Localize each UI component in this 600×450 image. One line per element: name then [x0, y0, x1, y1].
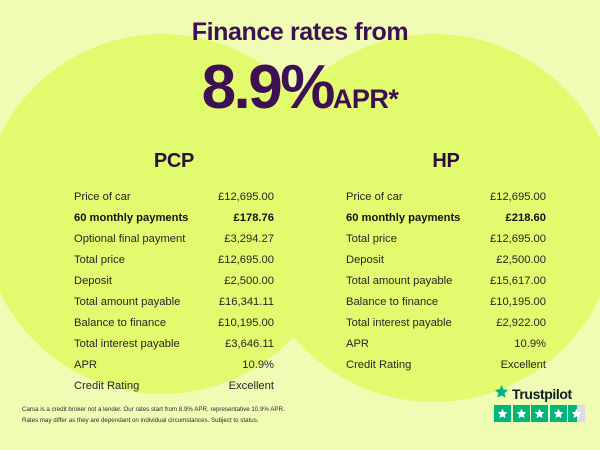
finance-row: Optional final payment£3,294.27	[74, 229, 274, 250]
finance-row: APR10.9%	[74, 355, 274, 376]
trustpilot-star-icon	[494, 384, 509, 404]
finance-row-label: Total price	[346, 229, 397, 250]
finance-row-value: £2,500.00	[224, 271, 274, 292]
finance-row-value: £178.76	[234, 208, 274, 229]
disclaimer-line-1: Carsa is a credit broker not a lender. O…	[22, 404, 352, 415]
finance-column-pcp: PCP Price of car£12,695.0060 monthly pay…	[58, 150, 290, 397]
finance-row: Balance to finance£10,195.00	[346, 292, 546, 313]
promo-card: Finance rates from 8.9%APR* PCP Price of…	[0, 0, 600, 450]
finance-row: Price of car£12,695.00	[74, 187, 274, 208]
finance-row-label: Credit Rating	[346, 355, 411, 376]
trustpilot-logo: Trustpilot	[494, 385, 586, 402]
finance-row-value: £10,195.00	[218, 313, 274, 334]
finance-row: Total interest payable£3,646.11	[74, 334, 274, 355]
headline-rate: 8.9%APR*	[0, 52, 600, 123]
finance-row-value: 10.9%	[242, 355, 274, 376]
finance-rows-pcp: Price of car£12,695.0060 monthly payment…	[58, 187, 290, 397]
finance-row-value: £12,695.00	[218, 250, 274, 271]
finance-row-value: £3,646.11	[225, 334, 274, 355]
finance-row-label: Price of car	[74, 187, 131, 208]
finance-row: Total amount payable£16,341.11	[74, 292, 274, 313]
finance-row-label: 60 monthly payments	[74, 208, 188, 229]
finance-row-value: £12,695.00	[218, 187, 274, 208]
finance-row-label: 60 monthly payments	[346, 208, 460, 229]
finance-row-value: £15,617.00	[490, 271, 546, 292]
content-layer: Finance rates from 8.9%APR* PCP Price of…	[0, 0, 600, 450]
finance-row-label: Total amount payable	[74, 292, 180, 313]
trustpilot-star-filled	[531, 405, 548, 422]
finance-row: Balance to finance£10,195.00	[74, 313, 274, 334]
rate-value: 8.9%	[202, 53, 333, 122]
trustpilot-star-filled	[550, 405, 567, 422]
finance-row: APR10.9%	[346, 334, 546, 355]
finance-row: Total amount payable£15,617.00	[346, 271, 546, 292]
finance-row: 60 monthly payments£218.60	[346, 208, 546, 229]
finance-column-hp: HP Price of car£12,695.0060 monthly paym…	[330, 150, 562, 376]
finance-row: Deposit£2,500.00	[74, 271, 274, 292]
finance-row-value: 10.9%	[514, 334, 546, 355]
finance-row-label: Price of car	[346, 187, 403, 208]
finance-row-label: APR	[346, 334, 369, 355]
finance-row: Credit RatingExcellent	[74, 376, 274, 397]
finance-row: Total price£12,695.00	[74, 250, 274, 271]
finance-row-label: Balance to finance	[346, 292, 438, 313]
finance-row-label: Deposit	[346, 250, 384, 271]
rate-suffix: APR*	[333, 84, 399, 114]
finance-row-label: Total amount payable	[346, 271, 452, 292]
finance-row-label: Balance to finance	[74, 313, 166, 334]
finance-row-value: £218.60	[506, 208, 546, 229]
trustpilot-badge[interactable]: Trustpilot	[494, 385, 586, 422]
finance-row-value: £3,294.27	[224, 229, 274, 250]
finance-row-value: Excellent	[501, 355, 546, 376]
finance-row: Credit RatingExcellent	[346, 355, 546, 376]
finance-row-value: £16,341.11	[219, 292, 274, 313]
finance-row-label: Credit Rating	[74, 376, 139, 397]
column-title-hp: HP	[330, 150, 562, 173]
trustpilot-star-partial	[568, 405, 585, 422]
finance-row-label: Optional final payment	[74, 229, 185, 250]
finance-row-value: Excellent	[229, 376, 274, 397]
finance-row: Deposit£2,500.00	[346, 250, 546, 271]
finance-row: Total interest payable£2,922.00	[346, 313, 546, 334]
disclaimer-text: Carsa is a credit broker not a lender. O…	[22, 404, 352, 427]
finance-row-value: £10,195.00	[490, 292, 546, 313]
finance-row-label: APR	[74, 355, 97, 376]
trustpilot-star-filled	[494, 405, 511, 422]
finance-row-label: Deposit	[74, 271, 112, 292]
page-title: Finance rates from	[0, 18, 600, 47]
finance-row-value: £2,500.00	[496, 250, 546, 271]
finance-row: Total price£12,695.00	[346, 229, 546, 250]
finance-row: Price of car£12,695.00	[346, 187, 546, 208]
finance-row-label: Total interest payable	[346, 313, 452, 334]
trustpilot-wordmark: Trustpilot	[512, 387, 572, 401]
column-title-pcp: PCP	[58, 150, 290, 173]
trustpilot-star-filled	[513, 405, 530, 422]
disclaimer-line-2: Rates may differ as they are dependant o…	[22, 415, 352, 426]
finance-rows-hp: Price of car£12,695.0060 monthly payment…	[330, 187, 562, 376]
finance-row-value: £12,695.00	[490, 187, 546, 208]
finance-row-label: Total interest payable	[74, 334, 180, 355]
finance-row-value: £12,695.00	[490, 229, 546, 250]
finance-row-value: £2,922.00	[496, 313, 546, 334]
trustpilot-star-rating	[494, 405, 586, 422]
finance-row-label: Total price	[74, 250, 125, 271]
finance-row: 60 monthly payments£178.76	[74, 208, 274, 229]
